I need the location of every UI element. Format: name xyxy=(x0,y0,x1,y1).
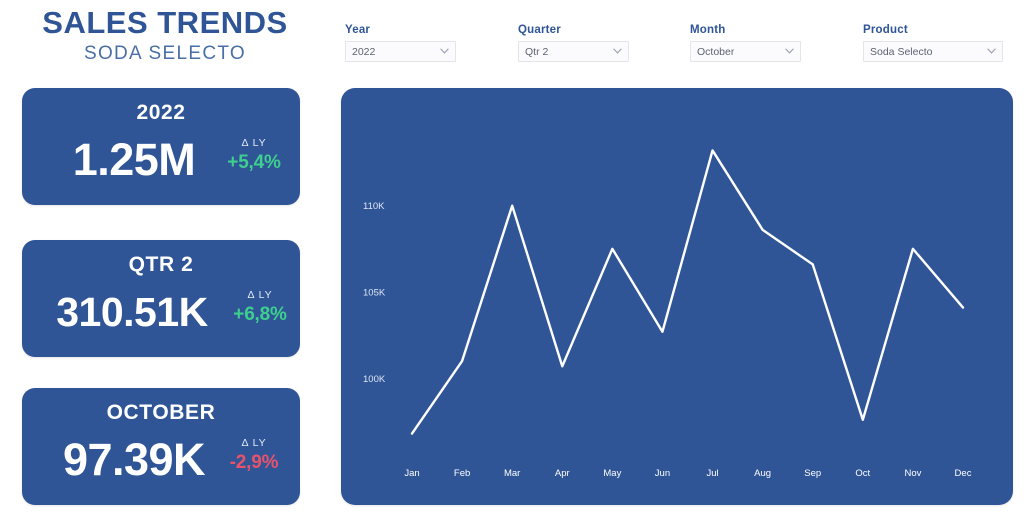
filter-bar: Year 2022 Quarter Qtr 2 Month October xyxy=(330,0,1024,88)
year-dropdown-value: 2022 xyxy=(352,45,375,60)
x-tick-label: Apr xyxy=(555,468,570,479)
title-block: SALES TRENDS SODA SELECTO xyxy=(0,5,330,67)
quarter-dropdown[interactable]: Qtr 2 xyxy=(518,41,629,62)
kpi-card-month-value: 97.39K xyxy=(36,432,232,488)
x-tick-label: May xyxy=(603,468,621,479)
filter-group-product: Product Soda Selecto xyxy=(863,24,1003,62)
x-tick-label: Jun xyxy=(655,468,670,479)
filter-label-year: Year xyxy=(345,24,485,36)
filter-group-month: Month October xyxy=(690,24,830,62)
filter-label-quarter: Quarter xyxy=(518,24,658,36)
x-tick-label: Feb xyxy=(454,468,470,479)
sales-trend-line-chart: 100K105K110K JanFebMarAprMayJunJulAugSep… xyxy=(341,88,1013,505)
x-tick-label: Sep xyxy=(804,468,821,479)
year-dropdown[interactable]: 2022 xyxy=(345,41,456,62)
y-tick-label: 110K xyxy=(363,201,385,212)
kpi-card-year-delta-caption: Δ LY xyxy=(218,136,290,150)
chevron-down-icon xyxy=(987,48,996,54)
kpi-card-year[interactable]: 2022 1.25M Δ LY +5,4% xyxy=(22,88,300,205)
x-tick-label: Jul xyxy=(706,468,718,479)
kpi-card-month-delta-value: -2,9% xyxy=(218,450,290,475)
kpi-card-quarter-delta-caption: Δ LY xyxy=(224,288,296,302)
sales-trend-chart-panel[interactable]: 100K105K110K JanFebMarAprMayJunJulAugSep… xyxy=(341,88,1013,505)
page-subtitle: SODA SELECTO xyxy=(0,41,330,67)
kpi-card-quarter-delta-value: +6,8% xyxy=(224,302,296,327)
chevron-down-icon xyxy=(440,48,449,54)
product-dropdown-value: Soda Selecto xyxy=(870,45,932,60)
filter-label-month: Month xyxy=(690,24,830,36)
kpi-card-month-delta: Δ LY -2,9% xyxy=(218,436,290,475)
kpi-card-quarter-label: QTR 2 xyxy=(22,253,300,277)
x-axis-tick-labels: JanFebMarAprMayJunJulAugSepOctNovDec xyxy=(404,468,971,479)
chevron-down-icon xyxy=(613,48,622,54)
month-dropdown[interactable]: October xyxy=(690,41,801,62)
kpi-card-month-label: OCTOBER xyxy=(22,401,300,425)
x-tick-label: Dec xyxy=(955,468,972,479)
quarter-dropdown-value: Qtr 2 xyxy=(525,45,548,60)
chevron-down-icon xyxy=(785,48,794,54)
left-summary-panel: SALES TRENDS SODA SELECTO 2022 1.25M Δ L… xyxy=(0,0,330,525)
right-content-panel: Year 2022 Quarter Qtr 2 Month October xyxy=(330,0,1024,525)
x-tick-label: Oct xyxy=(855,468,870,479)
filter-group-year: Year 2022 xyxy=(345,24,485,62)
kpi-card-month-delta-caption: Δ LY xyxy=(218,436,290,450)
kpi-card-quarter-value: 310.51K xyxy=(26,284,238,340)
sales-line-series xyxy=(412,150,963,433)
x-tick-label: Mar xyxy=(504,468,520,479)
month-dropdown-value: October xyxy=(697,45,734,60)
kpi-card-year-delta-value: +5,4% xyxy=(218,150,290,175)
product-dropdown[interactable]: Soda Selecto xyxy=(863,41,1003,62)
y-tick-label: 100K xyxy=(363,374,386,385)
filter-label-product: Product xyxy=(863,24,1003,36)
kpi-card-quarter-delta: Δ LY +6,8% xyxy=(224,288,296,327)
page-title: SALES TRENDS xyxy=(0,5,330,41)
x-tick-label: Nov xyxy=(904,468,921,479)
kpi-card-year-value: 1.25M xyxy=(36,132,232,188)
kpi-card-quarter[interactable]: QTR 2 310.51K Δ LY +6,8% xyxy=(22,240,300,357)
x-tick-label: Aug xyxy=(754,468,771,479)
filter-group-quarter: Quarter Qtr 2 xyxy=(518,24,658,62)
y-tick-label: 105K xyxy=(363,288,386,299)
x-tick-label: Jan xyxy=(404,468,419,479)
kpi-card-month[interactable]: OCTOBER 97.39K Δ LY -2,9% xyxy=(22,388,300,505)
kpi-card-year-delta: Δ LY +5,4% xyxy=(218,136,290,175)
y-axis-tick-labels: 100K105K110K xyxy=(363,201,386,385)
kpi-card-year-label: 2022 xyxy=(22,101,300,125)
